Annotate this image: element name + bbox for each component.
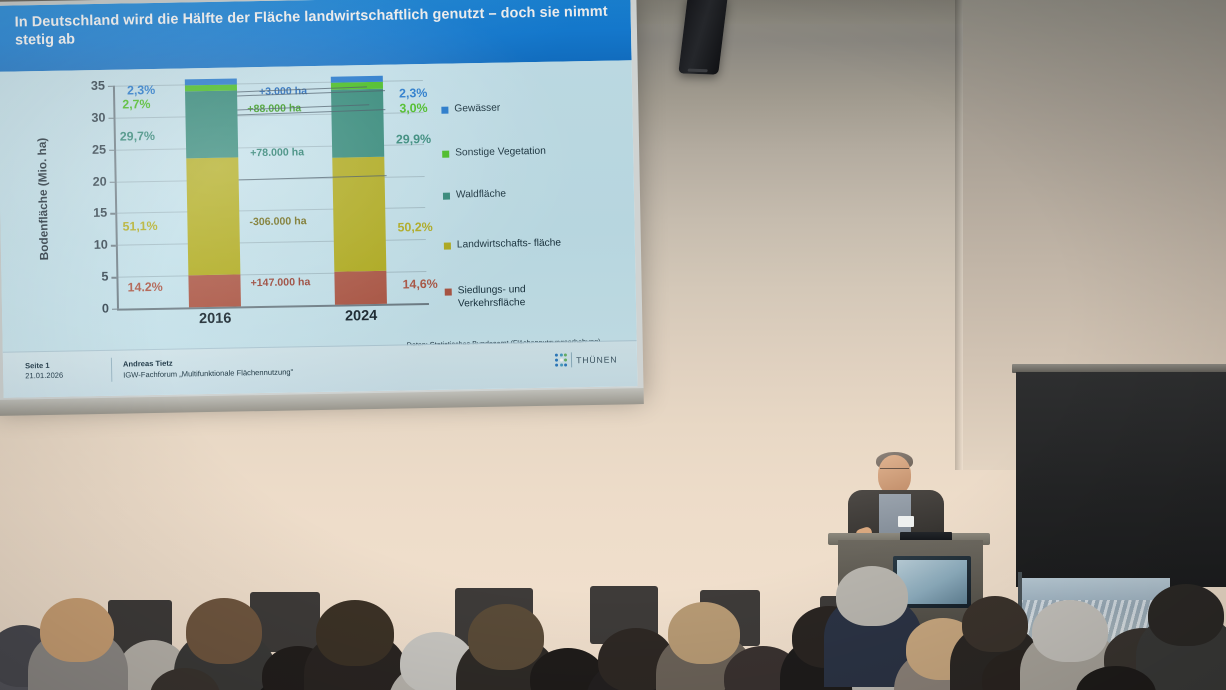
wall-corner-edge [955,0,963,470]
legend-swatch [441,107,448,114]
bar-segment-waldfläche [331,88,384,157]
y-axis-tick [108,86,113,87]
logo-dots-icon [555,354,567,366]
y-axis-tick [110,213,115,214]
logo-dot [555,359,558,362]
presenter-glasses [880,468,909,474]
slide-body: 05101520253035Bodenfläche (Mio. ha)20162… [0,60,637,352]
change-label-landwirtschaftsfläche: -306.000 ha [249,215,306,228]
bar-2016 [185,83,241,307]
legend-swatch [443,193,450,200]
footer-event: IGW-Fachforum „Multifunktionale Flächenn… [123,367,293,379]
logo-dot [555,363,558,366]
chart-plot-area: 05101520253035Bodenfläche (Mio. ha)20162… [113,80,427,309]
y-axis-tick [112,309,117,310]
legend-label: Siedlungs- und Verkehrsfläche [458,283,595,311]
audience-head [1148,584,1224,646]
window-blind [1016,372,1226,587]
y-axis-tick [111,277,116,278]
legend-label: Gewässer [454,103,500,116]
thuenen-logo: THÜNEN [555,352,618,368]
audience-head [40,598,114,662]
change-label-waldfläche: +78.000 ha [250,146,304,159]
legend-label: Sonstige Vegetation [455,146,546,160]
audience-head [316,600,394,666]
projection-screen: In Deutschland wird die Hälfte der Fläch… [0,0,644,406]
logo-dot [559,354,562,357]
logo-dot [555,354,558,357]
legend-item-siedlungs-: Siedlungs- und Verkehrsfläche [445,283,595,311]
footer-page: Seite 1 21.01.2026 [25,361,63,382]
pct-label-2024-siedlungs-: 14,6% [402,277,437,292]
y-axis-title: Bodenfläche (Mio. ha) [35,138,51,261]
legend-item-waldfläche: Waldfläche [443,189,506,203]
pct-label-2024-waldfläche: 29,9% [396,132,431,147]
pct-label-2024-sonstige: 3,0% [399,101,428,116]
legend-item-gewässer: Gewässer [441,103,500,117]
screen-surface: In Deutschland wird die Hälfte der Fläch… [0,0,638,398]
audience-head [836,566,908,626]
x-axis-label-2016: 2016 [155,310,275,328]
pct-label-2016-landwirtschaftsfläche: 51,1% [122,219,157,234]
y-axis-tick [111,245,116,246]
bar-segment-gewässer [185,79,237,85]
legend-swatch [444,243,451,250]
logo-divider [571,352,572,367]
footer-divider [111,358,112,382]
y-axis-tick-label: 10 [94,238,108,252]
pct-label-2016-gewässer: 2,3% [127,83,156,98]
y-axis-tick-label: 30 [91,110,105,124]
presentation-room-photo: In Deutschland wird die Hälfte der Fläch… [0,0,1226,690]
y-axis-tick-label: 0 [102,302,109,316]
chart-legend: GewässerSonstige VegetationWaldflächeLan… [441,101,591,104]
change-label-siedlungs-: +147.000 ha [250,276,310,289]
pct-label-2016-sonstige: 2,7% [122,97,151,112]
change-label-gewässer: +3.000 ha [259,85,307,98]
footer-page-number: Seite 1 [25,361,50,370]
bar-segment-siedlungs- [188,274,241,307]
bar-segment-siedlungs- [334,271,387,305]
presenter-name-badge [898,516,914,527]
y-axis-tick-label: 5 [101,270,108,284]
legend-swatch [445,289,452,296]
legend-item-sonstige: Sonstige Vegetation [442,146,546,160]
bar-segment-sonstige [185,84,237,91]
pct-label-2024-gewässer: 2,3% [399,86,428,101]
pct-label-2024-landwirtschaftsfläche: 50,2% [397,220,432,235]
legend-label: Waldfläche [456,189,506,203]
footer-author: Andreas Tietz [123,359,173,369]
bar-segment-landwirtschaftsfläche [186,158,240,275]
pct-label-2016-siedlungs-: 14.2% [127,280,162,295]
footer-date: 21.01.2026 [25,371,63,381]
logo-dot [564,354,567,357]
bar-segment-waldfläche [185,90,238,159]
audience-head [186,598,262,664]
x-axis-label-2024: 2024 [301,307,421,325]
y-axis [113,86,119,309]
audience-head [1032,600,1108,662]
presenter-head [878,455,911,495]
logo-dot [564,363,567,366]
y-axis-tick [109,149,114,150]
logo-text: THÜNEN [576,354,617,365]
y-axis-tick [108,118,113,119]
audience-head [668,602,740,664]
bar-2024 [331,81,387,305]
logo-dot [560,359,563,362]
y-axis-tick-label: 35 [91,79,105,93]
y-axis-tick-label: 25 [92,142,106,156]
slide: In Deutschland wird die Hälfte der Fläch… [0,0,638,398]
legend-item-landwirtschafts-: Landwirtschafts- fläche [444,238,561,253]
y-axis-tick-label: 15 [93,206,107,220]
bar-segment-landwirtschaftsfläche [332,156,386,271]
y-axis-tick [110,181,115,182]
audience-head [468,604,544,670]
logo-dot [564,358,567,361]
audience-head [962,596,1028,652]
bar-segment-gewässer [331,76,383,82]
legend-swatch [442,151,449,158]
y-axis-tick-label: 20 [93,174,107,188]
logo-dot [560,363,563,366]
pct-label-2016-waldfläche: 29,7% [120,129,155,144]
legend-label: Landwirtschafts- fläche [457,238,561,253]
